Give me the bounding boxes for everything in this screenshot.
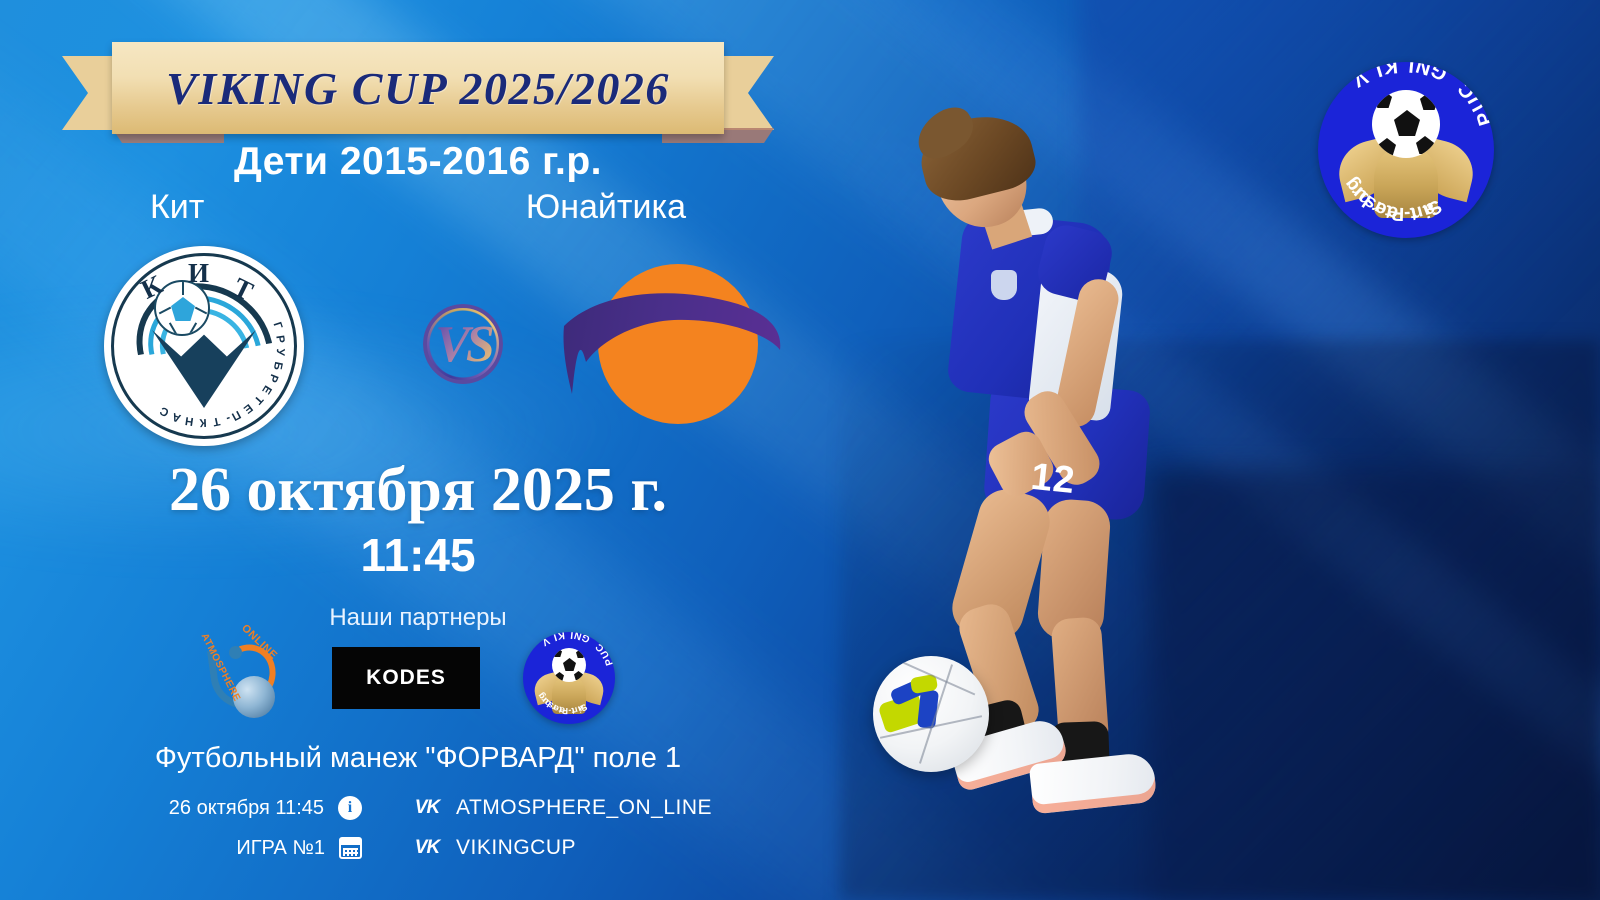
meta-datetime-cell: 26 октября 11:45 i: [62, 796, 362, 820]
match-meta: 26 октября 11:45 i VK ATMOSPHERE_ON_LINE…: [62, 788, 774, 868]
versus-logo: VS: [407, 288, 519, 400]
meta-row-datetime: 26 октября 11:45 i VK ATMOSPHERE_ON_LINE: [62, 788, 774, 828]
home-team-logo: К И Т С А Н К Т - П Е Т Е Р Б У Р Г: [104, 246, 304, 446]
info-icon[interactable]: i: [338, 796, 362, 820]
home-team-name: Кит: [150, 188, 204, 227]
away-logo-circle: [598, 264, 758, 424]
viking-small-bottom-text: Saint-Petersburg: [523, 632, 615, 724]
age-group-label: Дети 2015-2016 г.р.: [62, 140, 774, 184]
team-logos-row: К И Т С А Н К Т - П Е Т Е Р Б У Р Г: [62, 246, 774, 446]
partner-logo-atmosphere-online[interactable]: ATMOSPHERE ONLINE: [185, 634, 289, 722]
tournament-title-ribbon: VIKING CUP 2025/2026: [62, 42, 774, 142]
player-photo: 12: [845, 118, 1265, 888]
partner-logo-kodes[interactable]: KODES: [332, 647, 480, 709]
partners-row: ATMOSPHERE ONLINE KODES VIKING CUP Saint…: [185, 634, 615, 722]
tournament-title: VIKING CUP 2025/2026: [166, 62, 670, 115]
kodes-label: KODES: [366, 666, 446, 690]
venue-label: Футбольный манеж "ФОРВАРД" поле 1: [62, 742, 774, 775]
vk-account-1[interactable]: VK ATMOSPHERE_ON_LINE: [362, 796, 774, 820]
away-team-name: Юнайтика: [526, 188, 686, 227]
vk-handle-2: VIKINGCUP: [456, 836, 576, 860]
partners-title: Наши партнеры: [62, 604, 774, 632]
jersey-crest: [991, 270, 1017, 300]
match-time: 11:45: [62, 528, 774, 582]
versus-label: VS: [407, 288, 519, 400]
football-ball: [873, 656, 989, 772]
vk-icon: VK: [410, 837, 444, 859]
short-datetime-label: 26 октября 11:45: [169, 797, 324, 820]
vk-handle-1: ATMOSPHERE_ON_LINE: [456, 796, 712, 820]
viking-badge-large: VIKING CUP Saint-Petersburg: [1318, 62, 1494, 238]
match-date: 26 октября 2025 г.: [62, 455, 774, 526]
vk-icon: VK: [410, 797, 444, 819]
ribbon-body: VIKING CUP 2025/2026: [112, 42, 724, 134]
event-poster: VIKING CUP 2025/2026 Дети 2015-2016 г.р.…: [0, 0, 1600, 900]
viking-cup-logo: VIKING CUP Saint-Petersburg: [1318, 62, 1494, 238]
partner-logo-viking-cup[interactable]: VIKING CUP Saint-Petersburg: [523, 632, 615, 724]
atmosphere-head-icon: [229, 646, 242, 659]
jersey-number: 12: [1029, 456, 1078, 503]
calendar-icon[interactable]: [339, 837, 362, 859]
game-number-label: ИГРА №1: [236, 837, 325, 860]
viking-badge-small: VIKING CUP Saint-Petersburg: [523, 632, 615, 724]
away-team-logo: [562, 254, 782, 439]
meta-game-cell: ИГРА №1: [62, 837, 362, 860]
meta-row-game-number: ИГРА №1 VK VIKINGCUP: [62, 828, 774, 868]
viking-bottom-text: Saint-Petersburg: [1318, 62, 1494, 238]
vk-account-2[interactable]: VK VIKINGCUP: [362, 836, 774, 860]
kit-logo-bottom-text: С А Н К Т - П Е Т Е Р Б У Р Г: [104, 246, 304, 446]
team-names-row: Кит Юнайтика: [62, 188, 774, 227]
